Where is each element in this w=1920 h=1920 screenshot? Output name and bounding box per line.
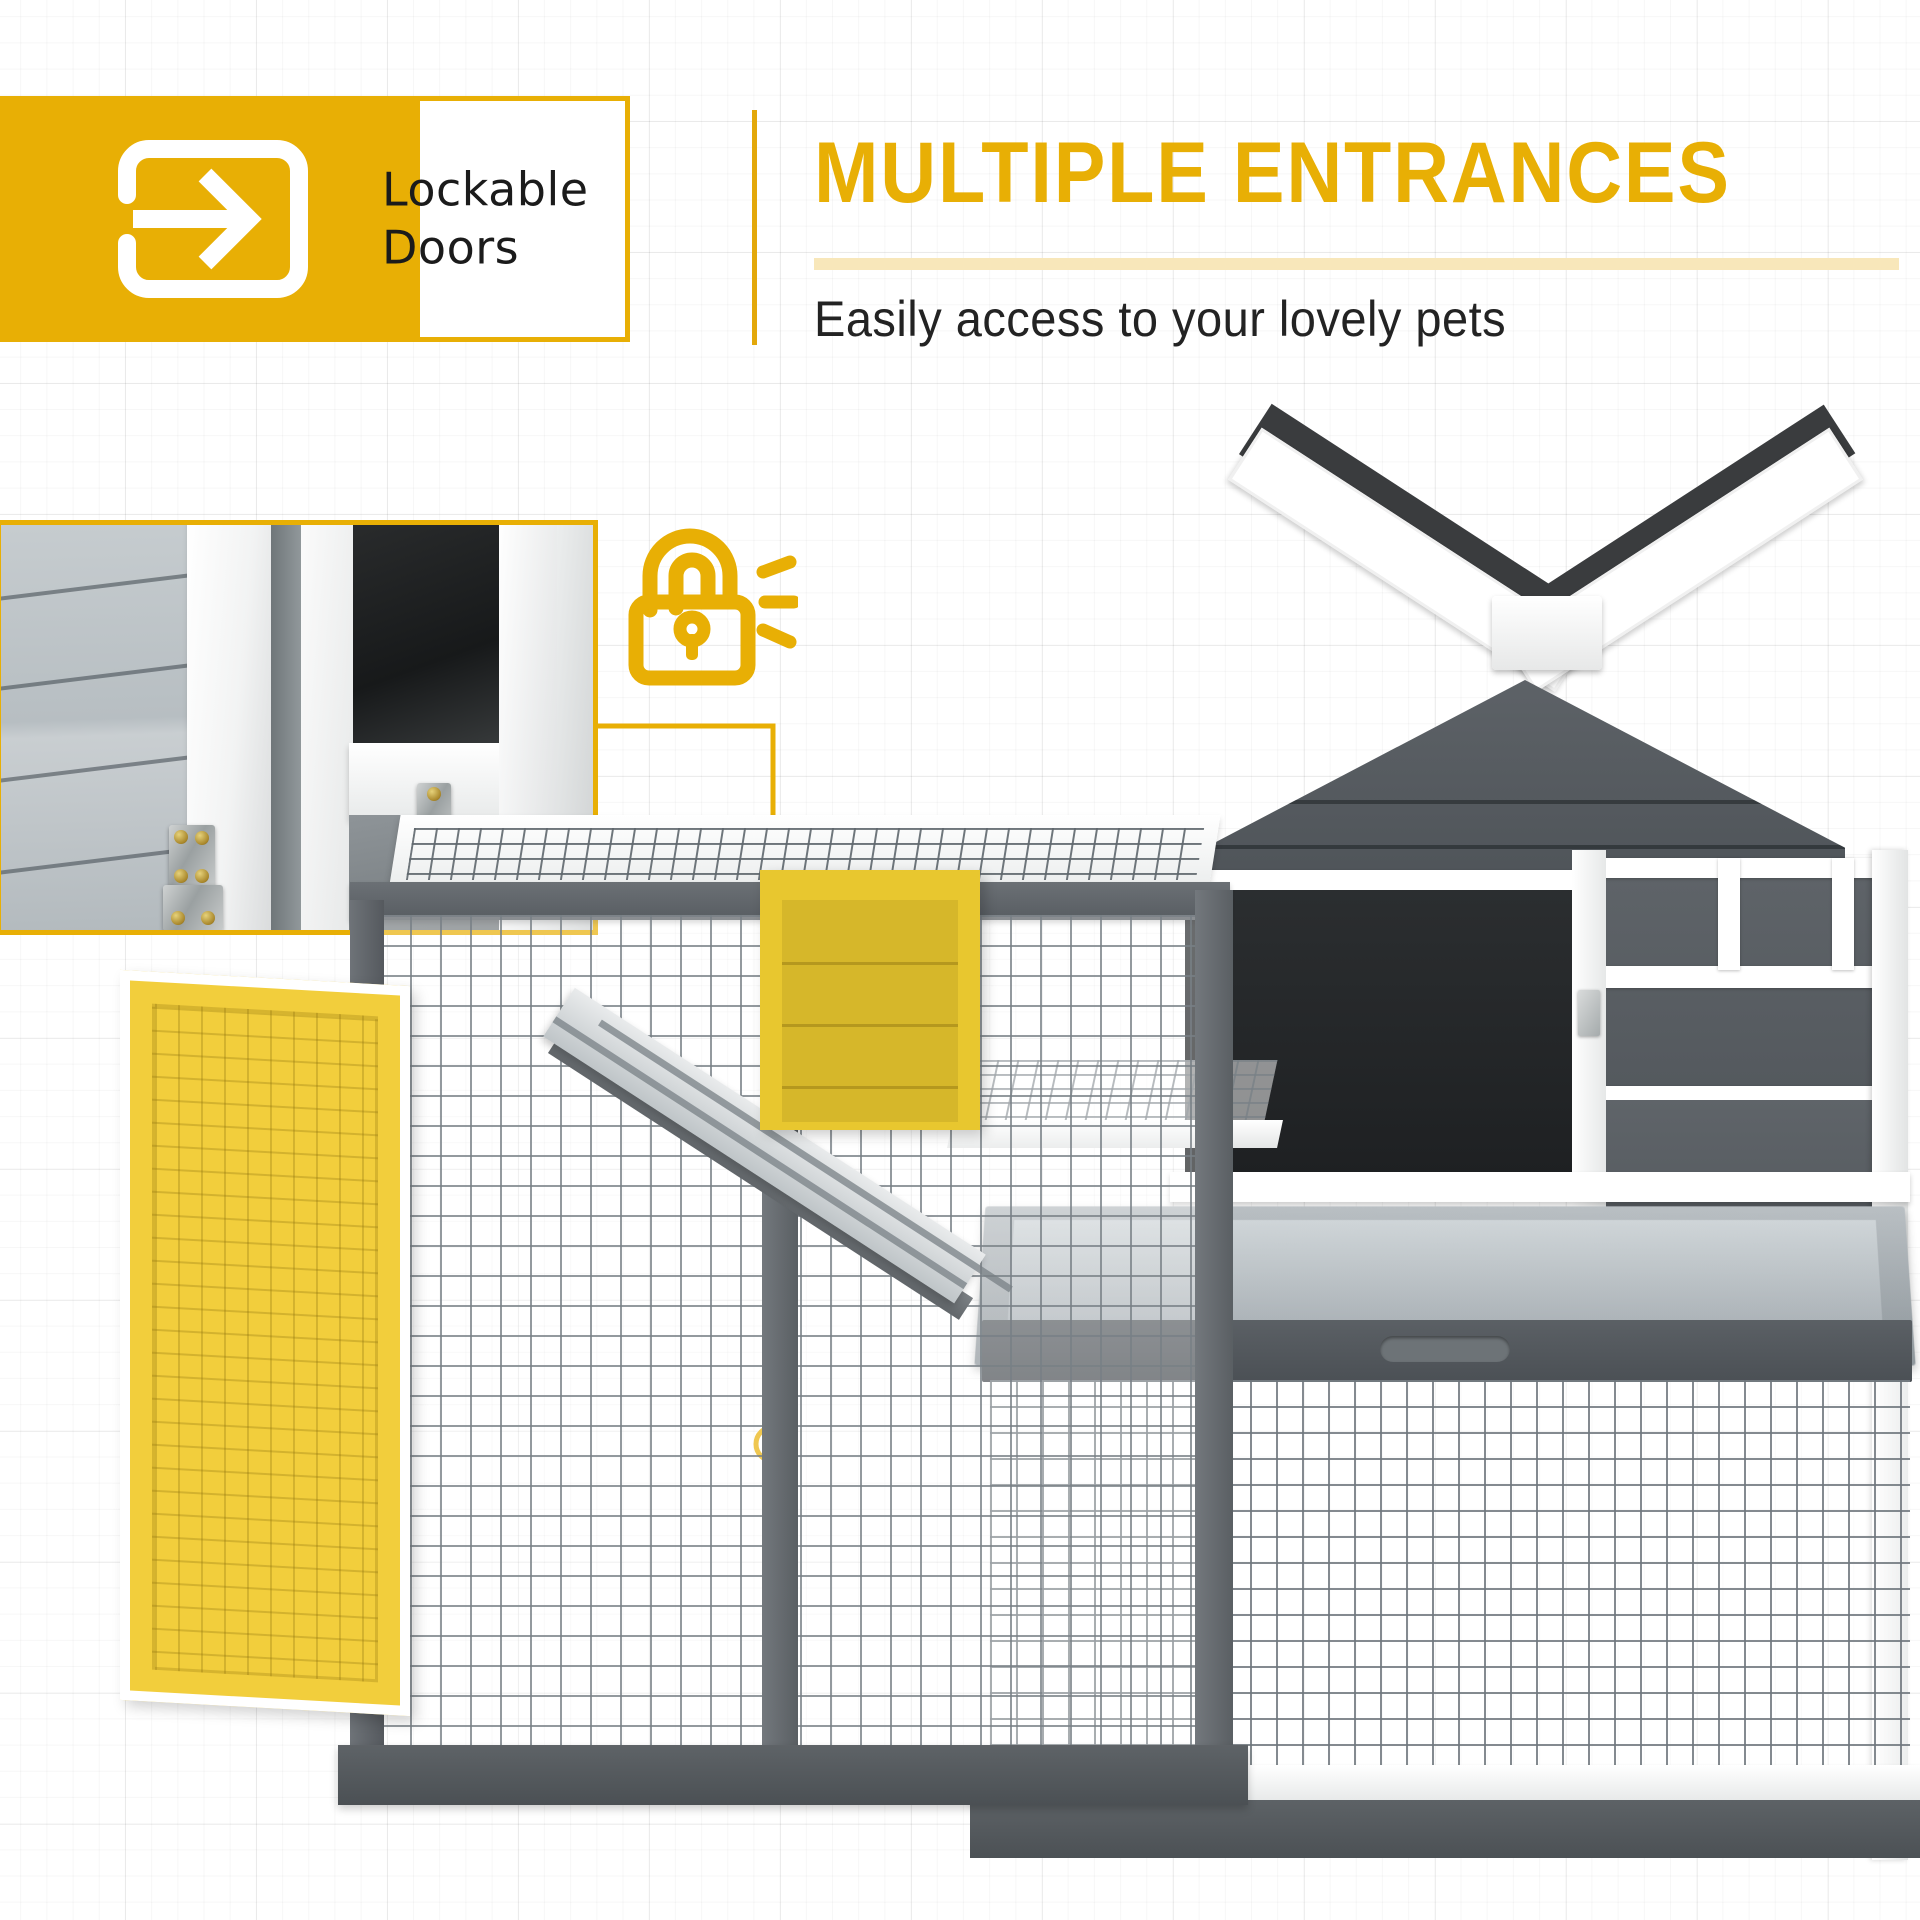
tray-handle[interactable] — [1380, 1336, 1510, 1362]
badge-label: Lockable Doors — [382, 162, 682, 277]
lockable-doors-badge: Lockable Doors — [0, 96, 630, 342]
roof-ridge-cap — [1492, 596, 1602, 670]
run-base-rail — [338, 1745, 1248, 1805]
house-interior-shadow — [1185, 890, 1615, 1200]
page-title: MULTIPLE ENTRANCES — [814, 130, 1731, 216]
window-grid-panel — [1600, 858, 1900, 1108]
door-enter-arrow-icon — [105, 133, 315, 305]
badge-icon-container — [0, 96, 420, 342]
rabbit-hutch-photo — [110, 560, 1920, 1920]
mesh-run-door-highlighted[interactable] — [120, 970, 410, 1716]
mesh-run-door-screen — [152, 1004, 378, 1683]
base-rail-right — [970, 1800, 1920, 1858]
page-subtitle: Easily access to your lovely pets — [814, 292, 1506, 347]
mid-ledge-board — [1170, 1172, 1910, 1202]
door-hinge-upper — [1578, 990, 1600, 1036]
upper-wood-door-highlighted[interactable] — [760, 870, 980, 1130]
title-divider — [814, 258, 1899, 270]
header-text-block: MULTIPLE ENTRANCES Easily access to your… — [752, 110, 1912, 345]
run-post-right — [1195, 890, 1233, 1770]
badge-label-container: Lockable Doors — [420, 96, 630, 342]
header-vertical-rule — [752, 110, 757, 345]
upper-wood-door-panel — [782, 900, 958, 1122]
